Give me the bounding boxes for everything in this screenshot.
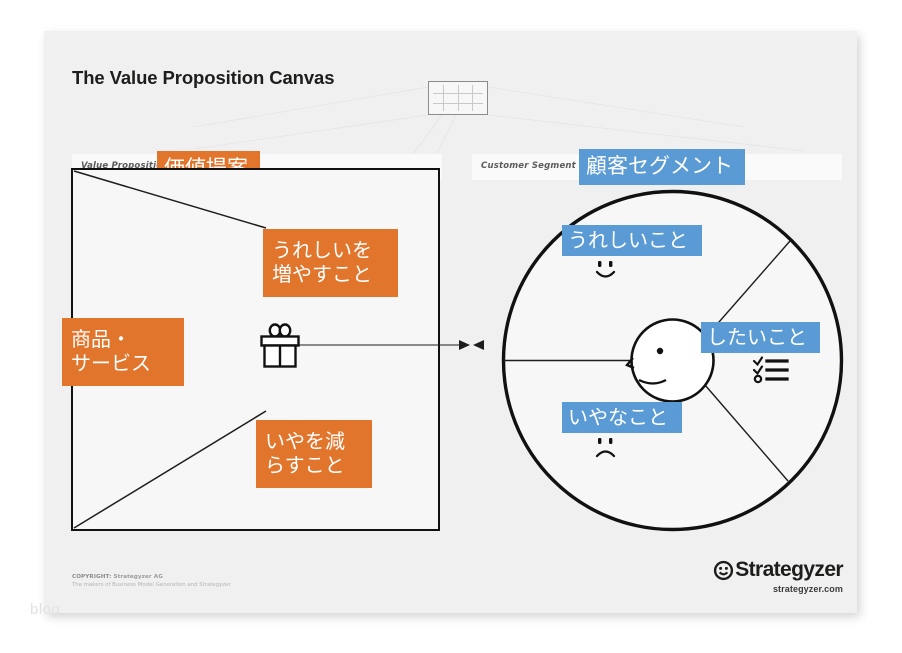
jobs-annotation: したいこと bbox=[701, 322, 820, 353]
smiley-face-icon bbox=[593, 260, 619, 282]
strategyzer-brand-block: Strategyzer strategyzer.com bbox=[714, 558, 843, 594]
canvas-title: The Value Proposition Canvas bbox=[72, 67, 334, 89]
gift-icon bbox=[259, 323, 301, 369]
gain-creators-annotation: うれしいを 増やすこと bbox=[263, 229, 398, 297]
checklist-icon bbox=[753, 357, 793, 387]
slide-background: The Value Proposition Canvas Value Propo… bbox=[0, 0, 902, 653]
customer-segment-label: Customer Segment bbox=[481, 161, 576, 171]
strategyzer-logo-icon bbox=[714, 561, 733, 580]
gains-annotation: うれしいこと bbox=[562, 225, 702, 256]
brand-name-text: Strategyzer bbox=[735, 558, 843, 582]
canvas-thumbnail-icon bbox=[428, 81, 488, 115]
products-services-annotation: 商品・ サービス bbox=[62, 318, 184, 386]
brand-url: strategyzer.com bbox=[714, 584, 843, 594]
pain-relievers-annotation: いやを減 らすこと bbox=[256, 420, 372, 488]
blog-watermark: blog bbox=[30, 601, 60, 618]
copyright-subline: The makers of Business Model Generation … bbox=[72, 582, 231, 588]
pains-annotation: いやなこと bbox=[562, 402, 682, 433]
customer-segment-annotation: 顧客セグメント bbox=[579, 149, 745, 185]
copyright-prefix: COPYRIGHT: bbox=[72, 574, 111, 580]
value-proposition-canvas-sheet: The Value Proposition Canvas Value Propo… bbox=[44, 31, 857, 613]
fit-arrow-left bbox=[473, 340, 484, 350]
fit-arrow-right bbox=[459, 340, 470, 350]
strategyzer-wordmark: Strategyzer bbox=[714, 558, 843, 582]
copyright-owner: Strategyzer AG bbox=[113, 574, 162, 580]
copyright-line: COPYRIGHT: Strategyzer AG bbox=[72, 574, 231, 580]
sad-face-icon bbox=[593, 437, 619, 459]
copyright-block: COPYRIGHT: Strategyzer AG The makers of … bbox=[72, 574, 231, 588]
